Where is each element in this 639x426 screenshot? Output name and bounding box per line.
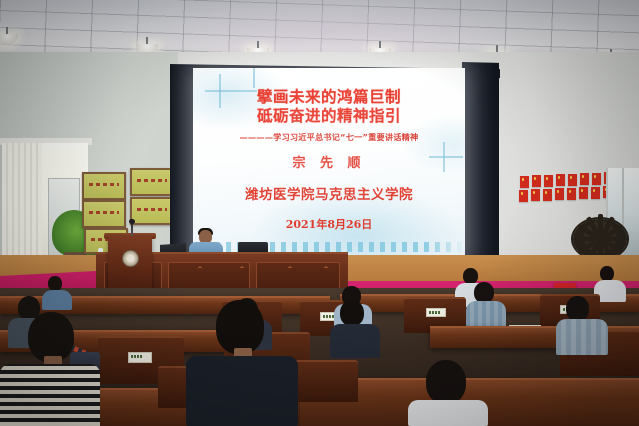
ship-helm-wheel-icon <box>573 219 627 259</box>
chinese-flag-icon <box>532 175 541 187</box>
head-table-panel <box>168 262 250 290</box>
award-plaque <box>130 168 174 196</box>
slide-title: 擘画未来的鸿篇巨制 砥砺奋进的精神指引 <box>193 88 465 126</box>
person-torso <box>42 290 72 310</box>
person-head <box>463 268 478 284</box>
slide-title-line1: 擘画未来的鸿篇巨制 <box>193 88 465 107</box>
person-torso <box>186 356 298 426</box>
lectern-emblem-icon <box>122 250 139 267</box>
lecture-hall-photo: 擘画未来的鸿篇巨制 砥砺奋进的精神指引 ————学习习近平总书记“七一”重要讲话… <box>0 0 639 426</box>
person-head <box>48 276 62 291</box>
microphone-icon <box>131 222 133 236</box>
person-torso <box>408 400 488 426</box>
chinese-flag-icon <box>519 190 528 202</box>
head-table-panel <box>256 262 340 290</box>
chinese-flag-icon <box>543 189 552 201</box>
chinese-flag-icon <box>579 187 588 199</box>
person-head <box>566 296 589 321</box>
chinese-flag-icon <box>568 174 577 186</box>
chinese-flag-icon <box>531 189 540 201</box>
person-torso <box>0 364 100 426</box>
seat-number-label <box>128 352 152 363</box>
person-head <box>474 282 494 303</box>
award-plaque <box>82 172 126 200</box>
projection-screen: 擘画未来的鸿篇巨制 砥砺奋进的精神指引 ————学习习近平总书记“七一”重要讲话… <box>193 68 465 258</box>
screen-surround-right <box>462 62 499 262</box>
slide-speaker-name: 宗 先 顺 <box>193 152 465 171</box>
seat-number-label <box>426 308 446 317</box>
window-blinds <box>2 143 42 261</box>
slide-subtitle: ————学习习近平总书记“七一”重要讲话精神 <box>193 131 465 143</box>
slide-title-line2: 砥砺奋进的精神指引 <box>193 107 465 126</box>
person-head <box>426 360 466 404</box>
person-torso <box>330 324 380 358</box>
chinese-flag-icon <box>591 187 600 199</box>
person-head <box>340 300 364 326</box>
slide-decor-line <box>253 68 255 88</box>
person-head <box>600 266 614 281</box>
person-torso <box>556 319 608 355</box>
person-head <box>28 312 74 362</box>
person-head <box>216 300 264 354</box>
chinese-flag-icon <box>544 175 553 187</box>
slide-organization: 潍坊医学院马克思主义学院 <box>193 183 465 203</box>
chinese-flag-icon <box>520 176 529 188</box>
chinese-flag-icon <box>580 173 589 185</box>
chinese-flag-icon <box>556 174 565 186</box>
chinese-flag-icon <box>592 173 601 185</box>
award-plaque <box>130 197 174 225</box>
slide-date: 2021年8月26日 <box>193 216 465 232</box>
award-plaque <box>82 200 126 228</box>
chinese-flag-icon <box>567 188 576 200</box>
slide-wave-decoration <box>193 242 465 252</box>
chinese-flag-icon <box>555 188 564 200</box>
